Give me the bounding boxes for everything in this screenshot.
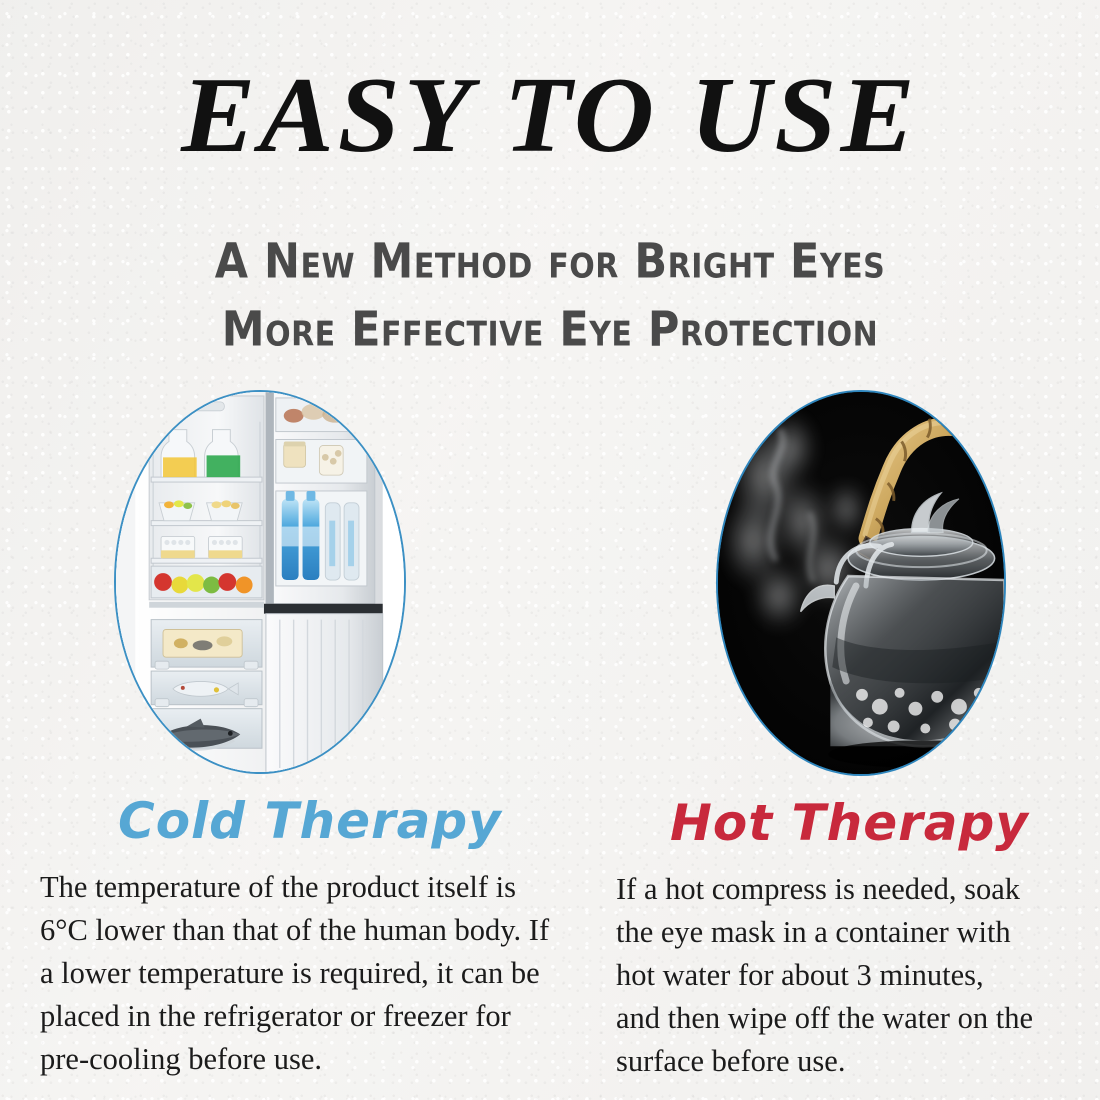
subtitle-line-1: A New Method for Bright Eyes [0, 224, 1100, 300]
steaming-teapot-photo [716, 390, 1006, 776]
refrigerator-illustration [116, 392, 404, 772]
cold-therapy-panel: Cold Therapy The temperature of the prod… [22, 390, 552, 1100]
hot-therapy-description: If a hot compress is needed, soak the ey… [616, 868, 1034, 1083]
refrigerator-photo [114, 390, 406, 774]
teapot-illustration [718, 392, 1004, 774]
subtitle-line-2: More Effective Eye Protection [0, 292, 1100, 368]
hot-therapy-heading: Hot Therapy [670, 794, 1078, 852]
product-infographic-page: EASY TO USE A New Method for Bright Eyes… [0, 0, 1100, 1100]
page-title: EASY TO USE [0, 62, 1100, 170]
cold-therapy-heading: Cold Therapy [118, 792, 552, 850]
cold-therapy-description: The temperature of the product itself is… [40, 866, 564, 1081]
subtitle-block: A New Method for Bright Eyes More Effect… [0, 228, 1100, 364]
hot-therapy-panel: Hot Therapy If a hot compress is needed,… [608, 390, 1078, 1100]
